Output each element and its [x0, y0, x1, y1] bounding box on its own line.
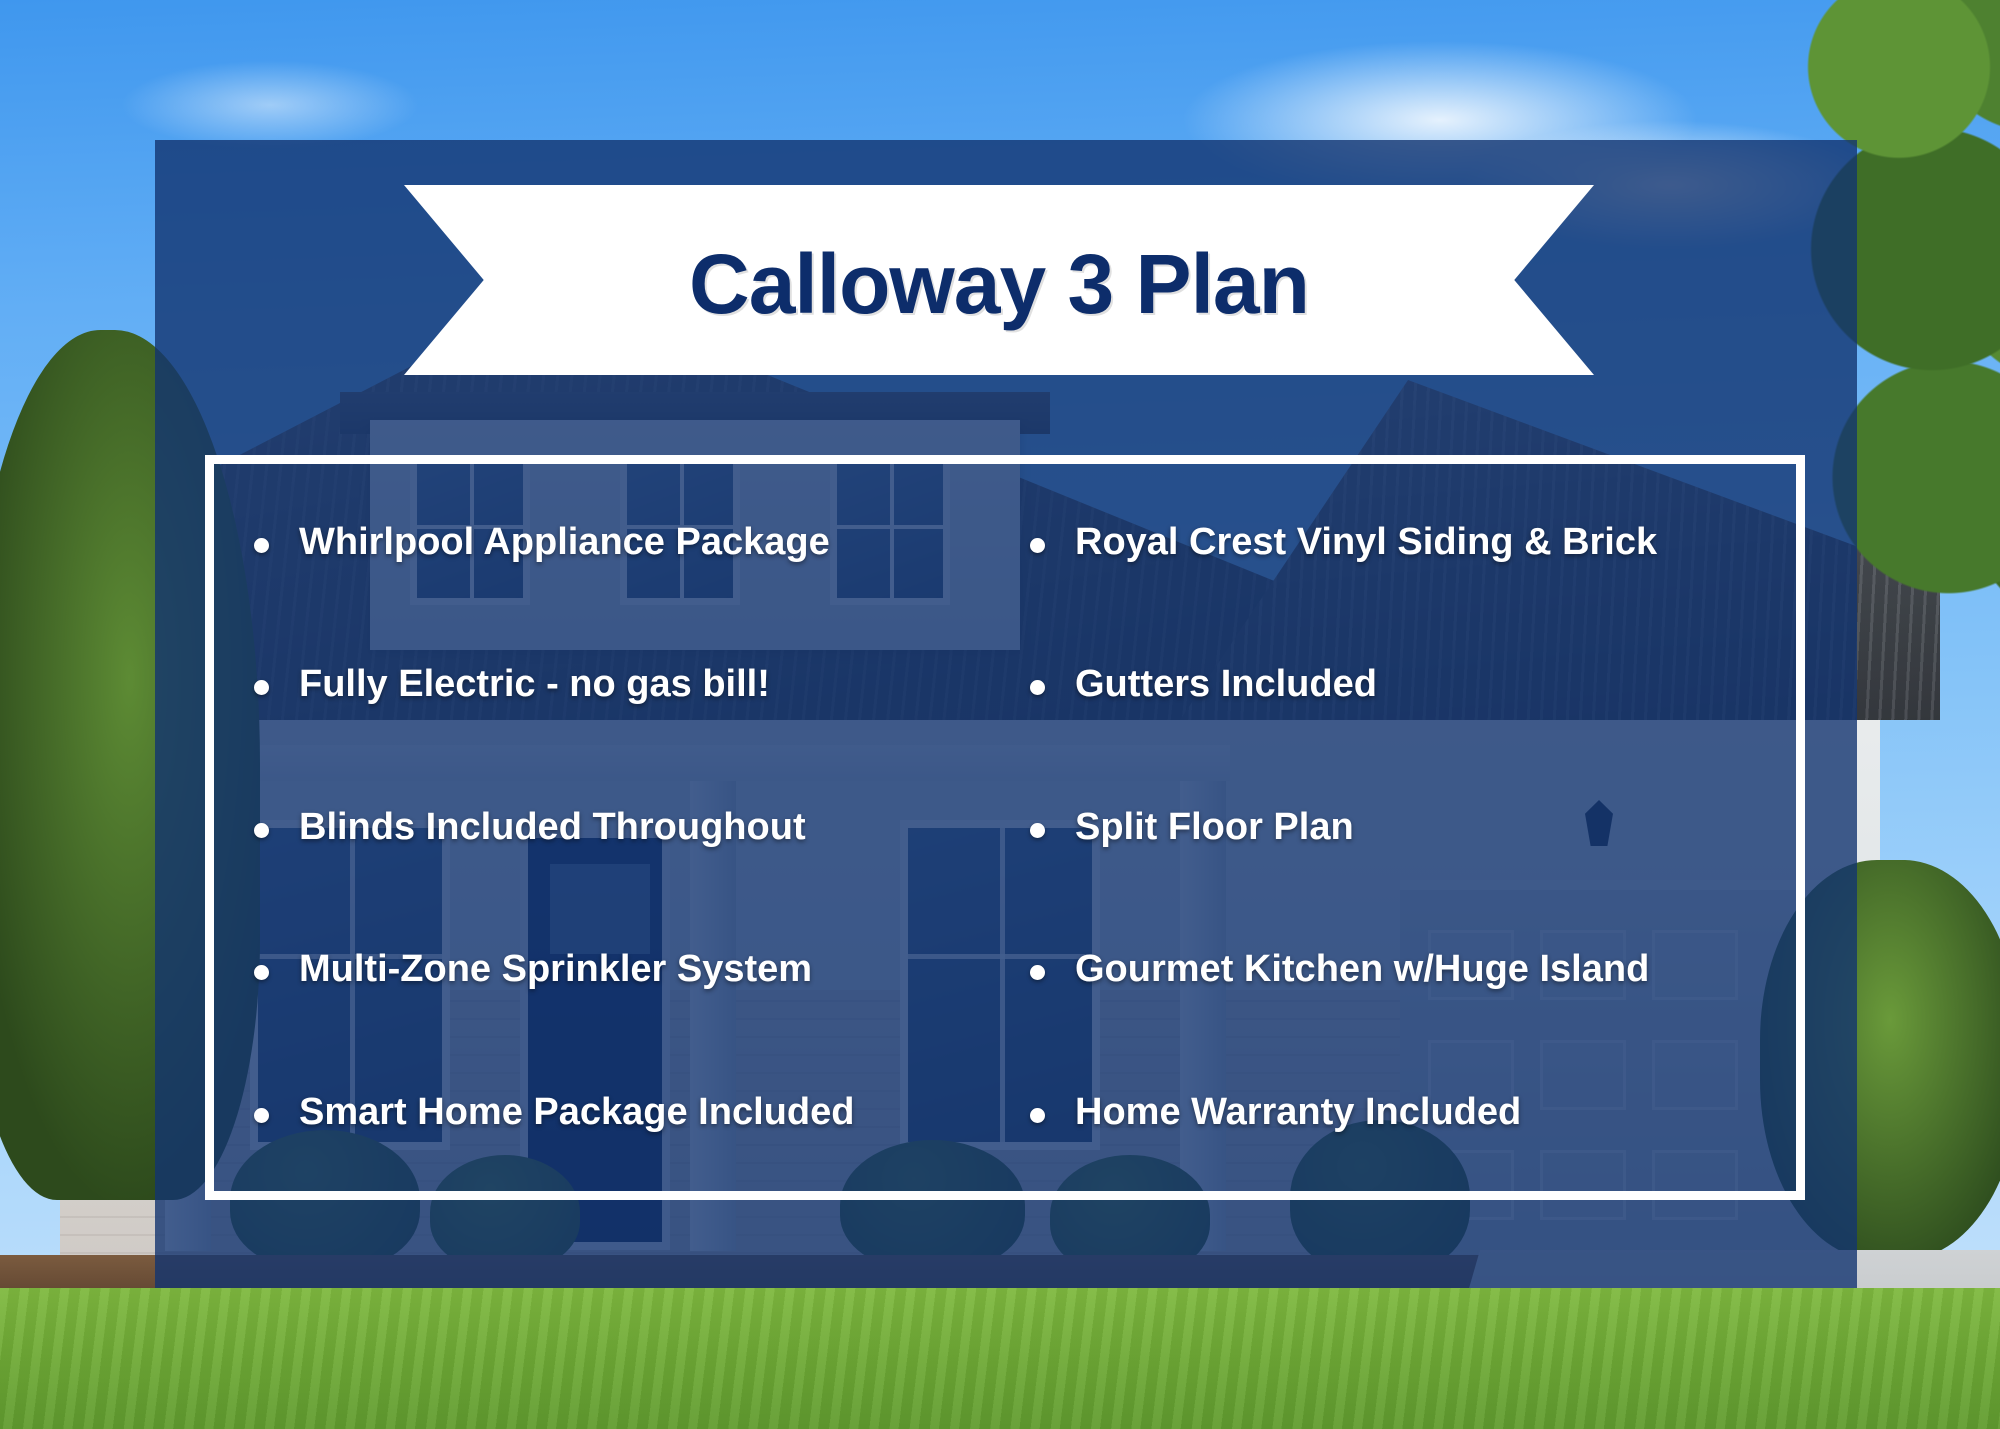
feature-label: Whirlpool Appliance Package: [299, 522, 830, 563]
feature-item: Blinds Included Throughout: [254, 807, 986, 848]
feature-item: Multi-Zone Sprinkler System: [254, 949, 986, 990]
features-left-column: Whirlpool Appliance Package Fully Electr…: [254, 522, 986, 1133]
feature-item: Fully Electric - no gas bill!: [254, 664, 986, 705]
feature-item: Royal Crest Vinyl Siding & Brick: [1030, 522, 1762, 563]
feature-label: Split Floor Plan: [1075, 807, 1354, 848]
feature-label: Home Warranty Included: [1075, 1092, 1521, 1133]
feature-label: Smart Home Package Included: [299, 1092, 854, 1133]
bullet-icon: [254, 1108, 269, 1123]
bullet-icon: [1030, 680, 1045, 695]
bullet-icon: [1030, 1108, 1045, 1123]
bullet-icon: [1030, 823, 1045, 838]
title-ribbon: Calloway 3 Plan: [404, 185, 1594, 375]
feature-label: Gourmet Kitchen w/Huge Island: [1075, 949, 1649, 990]
feature-label: Royal Crest Vinyl Siding & Brick: [1075, 522, 1657, 563]
feature-label: Blinds Included Throughout: [299, 807, 806, 848]
feature-item: Gourmet Kitchen w/Huge Island: [1030, 949, 1762, 990]
feature-label: Gutters Included: [1075, 664, 1377, 705]
feature-item: Home Warranty Included: [1030, 1092, 1762, 1133]
feature-item: Smart Home Package Included: [254, 1092, 986, 1133]
marketing-flyer: Calloway 3 Plan Whirlpool Appliance Pack…: [0, 0, 2000, 1429]
bullet-icon: [1030, 965, 1045, 980]
bullet-icon: [254, 823, 269, 838]
feature-item: Split Floor Plan: [1030, 807, 1762, 848]
lawn: [0, 1288, 2000, 1429]
features-right-column: Royal Crest Vinyl Siding & Brick Gutters…: [986, 522, 1762, 1133]
bullet-icon: [254, 680, 269, 695]
page-title: Calloway 3 Plan: [689, 236, 1309, 333]
feature-item: Gutters Included: [1030, 664, 1762, 705]
bullet-icon: [254, 965, 269, 980]
features-columns: Whirlpool Appliance Package Fully Electr…: [214, 464, 1796, 1191]
bullet-icon: [1030, 538, 1045, 553]
feature-item: Whirlpool Appliance Package: [254, 522, 986, 563]
bullet-icon: [254, 538, 269, 553]
feature-label: Fully Electric - no gas bill!: [299, 664, 770, 705]
cloud: [120, 60, 420, 150]
features-frame: Whirlpool Appliance Package Fully Electr…: [205, 455, 1805, 1200]
feature-label: Multi-Zone Sprinkler System: [299, 949, 812, 990]
